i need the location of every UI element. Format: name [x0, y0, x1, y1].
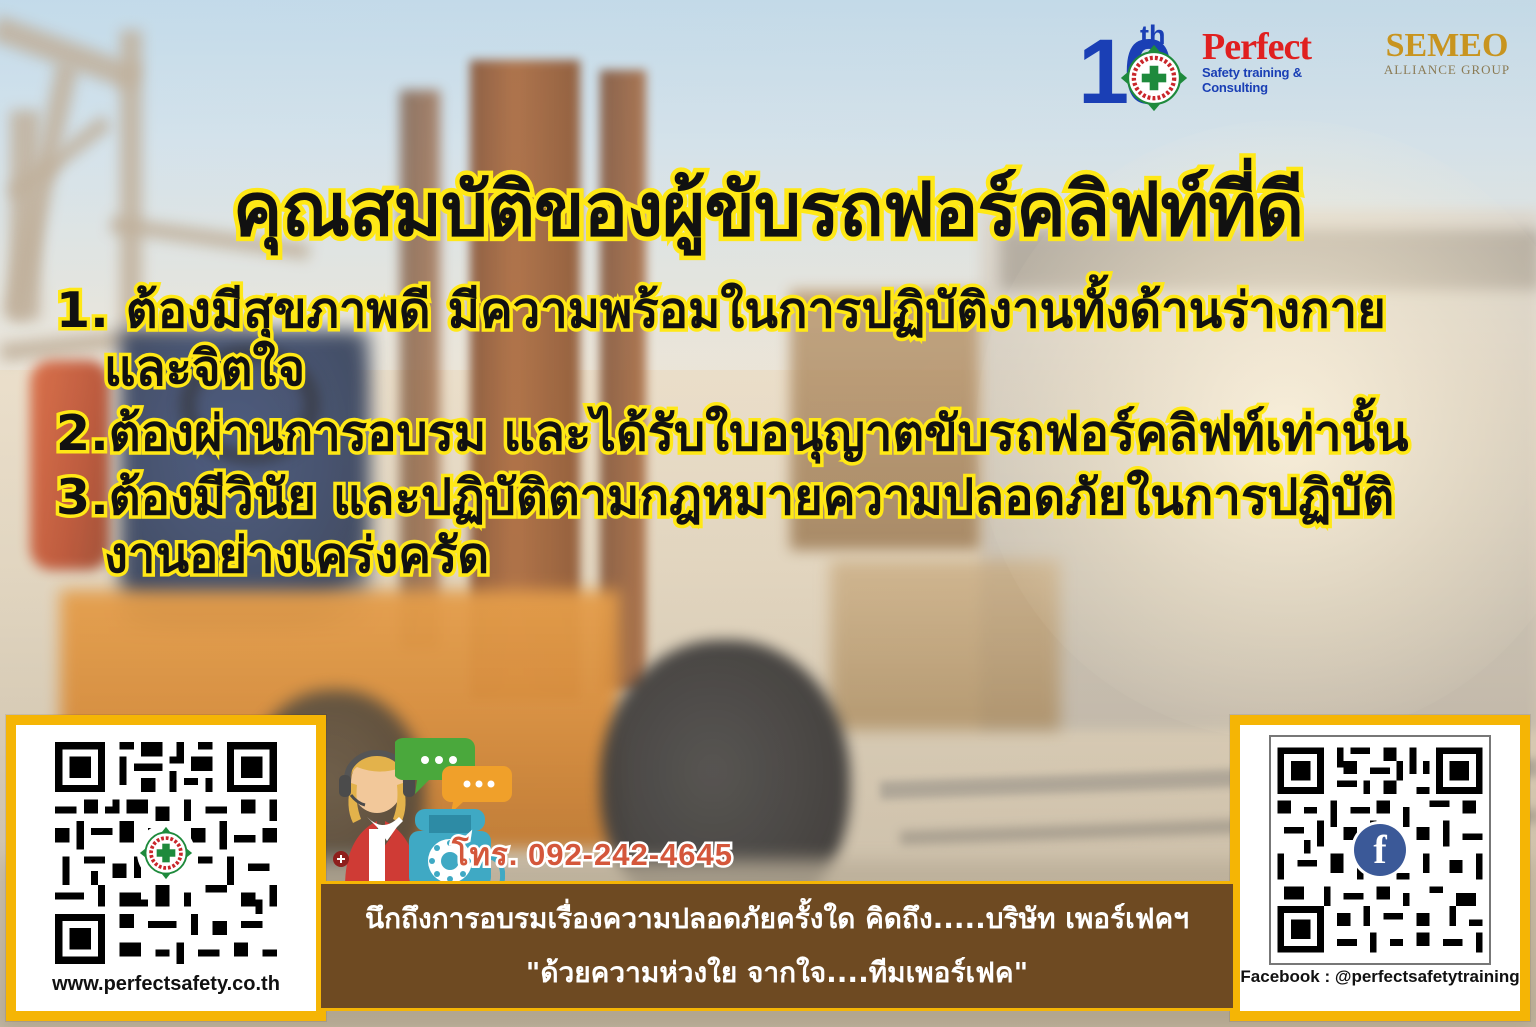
- list-item: 1. ต้องมีสุขภาพดี มีความพร้อมในการปฏิบัต…: [56, 282, 1496, 399]
- list-item: 2.ต้องผ่านการอบรม และได้รับใบอนุญาตขับรถ…: [56, 405, 1496, 463]
- partner-logo: SEMEO ALLIANCE GROUP: [1376, 28, 1518, 104]
- logo-bar: 10 th Perfect Safety training & Consulti…: [1078, 12, 1518, 120]
- website-qr-inner: www.perfectsafety.co.th: [16, 725, 316, 1011]
- phone-number[interactable]: โทร. 092-242-4645: [452, 829, 733, 879]
- list-item-continuation: และจิตใจ: [56, 340, 1496, 398]
- list-item-text: 1. ต้องมีสุขภาพดี มีความพร้อมในการปฏิบัต…: [56, 282, 1386, 339]
- poster-canvas: 10 th Perfect Safety training & Consulti…: [0, 0, 1536, 1027]
- facebook-handle-label: Facebook : @perfectsafetytraining: [1240, 967, 1519, 987]
- brand-logo: Perfect Safety training & Consulting: [1202, 27, 1370, 105]
- facebook-qr-card[interactable]: f Facebook : @perfectsafetytraining: [1230, 715, 1530, 1021]
- list-item: 3.ต้องมีวินัย และปฏิบัติตามกฎหมายความปลอ…: [56, 469, 1496, 586]
- brand-tagline: Safety training & Consulting: [1202, 65, 1370, 95]
- list-item-continuation: งานอย่างเคร่งครัด: [56, 527, 1496, 585]
- list-item-text: 2.ต้องผ่านการอบรม และได้รับใบอนุญาตขับรถ…: [56, 405, 1409, 462]
- footer-line-1: นึกถึงการอบรมเรื่องความปลอดภัยครั้งใด คิ…: [365, 897, 1189, 941]
- safety-gear-icon: [1118, 42, 1190, 114]
- facebook-icon: f: [1354, 824, 1406, 876]
- list-item-text: 3.ต้องมีวินัย และปฏิบัติตามกฎหมายความปลอ…: [56, 469, 1394, 526]
- safety-gear-icon: [138, 825, 194, 881]
- partner-name: SEMEO: [1376, 28, 1518, 64]
- website-qr-card[interactable]: www.perfectsafety.co.th: [6, 715, 326, 1021]
- page-title: คุณสมบัติของผู้ขับรถฟอร์คลิฟท์ที่ดี: [0, 150, 1536, 268]
- partner-tagline: ALLIANCE GROUP: [1376, 62, 1518, 78]
- facebook-qr-code[interactable]: f: [1269, 735, 1491, 965]
- requirements-list: 1. ต้องมีสุขภาพดี มีความพร้อมในการปฏิบัต…: [56, 282, 1496, 591]
- footer-line-2: "ด้วยความห่วงใย จากใจ....ทีมเพอร์เฟค": [526, 951, 1028, 995]
- qr-center-facebook-icon: f: [1351, 821, 1409, 879]
- website-qr-code[interactable]: [43, 735, 289, 971]
- facebook-qr-inner: f Facebook : @perfectsafetytraining: [1240, 725, 1520, 1011]
- footer-banner: นึกถึงการอบรมเรื่องความปลอดภัยครั้งใด คิ…: [318, 881, 1236, 1011]
- anniversary-logo: 10 th: [1078, 14, 1196, 118]
- brand-name: Perfect: [1202, 27, 1370, 67]
- website-url-label: www.perfectsafety.co.th: [52, 973, 280, 996]
- qr-center-brand-icon: [137, 824, 195, 882]
